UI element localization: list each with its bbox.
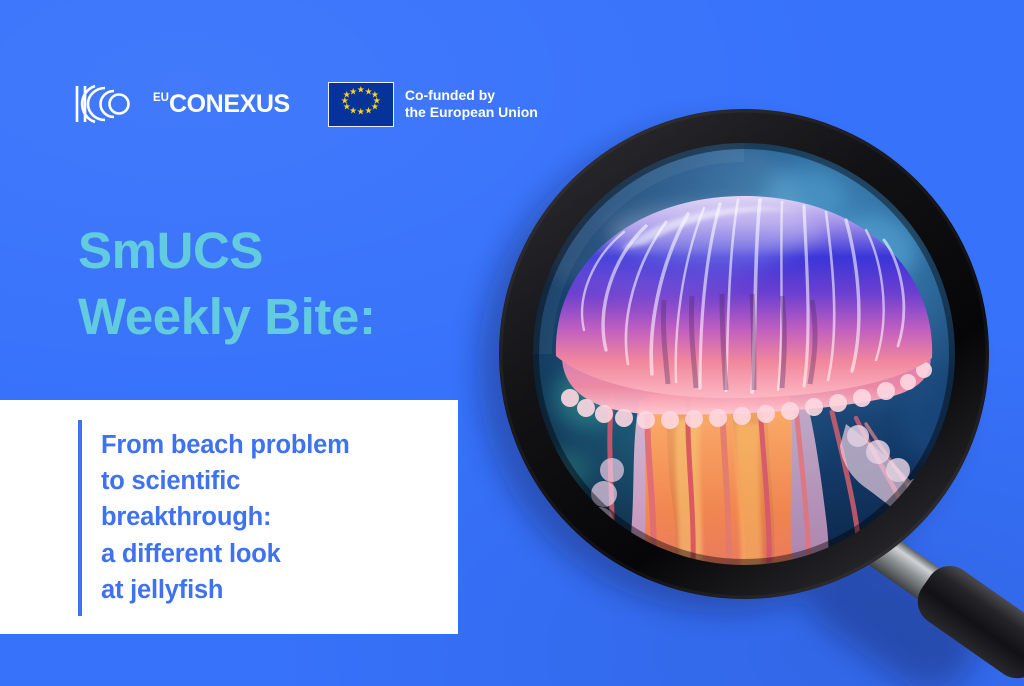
jellyfish-tentacles (584, 394, 975, 686)
page-title: SmUCS Weekly Bite: (78, 218, 376, 351)
conexus-wordmark: EUCONEXUS (153, 92, 290, 117)
lens-content (504, 126, 975, 686)
handle-collar (833, 506, 883, 562)
subtitle-card: From beach problem to scientific breakth… (0, 400, 458, 634)
conexus-arcs-icon (74, 81, 142, 127)
conexus-name: CONEXUS (169, 92, 290, 117)
magnifier-shadow (478, 124, 996, 686)
poster: EUCONEXUS ★ ★ ★ ★ ★ ★ ★ ★ ★ ★ ★ ★ Co-fun… (0, 0, 1024, 686)
bell-filaments (663, 294, 815, 390)
handle-neck (851, 522, 943, 602)
subtitle-text: From beach problem to scientific breakth… (101, 427, 450, 608)
bell-striations (582, 200, 904, 392)
jellyfish-bell (556, 196, 932, 398)
eu-conexus-logo: EUCONEXUS (74, 81, 290, 127)
eu-flag-icon: ★ ★ ★ ★ ★ ★ ★ ★ ★ ★ ★ ★ (328, 82, 394, 127)
magnifier-handle (830, 502, 1024, 686)
water-bokeh (540, 170, 960, 492)
frilly-arm-left (587, 458, 627, 611)
eu-funding-logo: ★ ★ ★ ★ ★ ★ ★ ★ ★ ★ ★ ★ Co-funded by the… (328, 82, 538, 127)
eu-funding-line2: the European Union (405, 104, 538, 122)
conexus-eu-prefix: EU (153, 93, 169, 105)
tentacle-strands (584, 396, 960, 686)
skirt-fringe (561, 362, 932, 429)
bell-highlight (620, 208, 800, 250)
eu-funding-text: Co-funded by the European Union (405, 87, 538, 122)
jellyfish-skirt (562, 352, 931, 414)
logo-bar: EUCONEXUS ★ ★ ★ ★ ★ ★ ★ ★ ★ ★ ★ ★ Co-fun… (74, 76, 538, 132)
eu-funding-line1: Co-funded by (405, 87, 538, 105)
frilly-arm-right (840, 424, 975, 574)
handle-grip (908, 557, 1024, 686)
lens-inner-shadow (532, 142, 956, 566)
magnifier-rim (516, 126, 972, 582)
card-accent-rule (78, 420, 82, 616)
